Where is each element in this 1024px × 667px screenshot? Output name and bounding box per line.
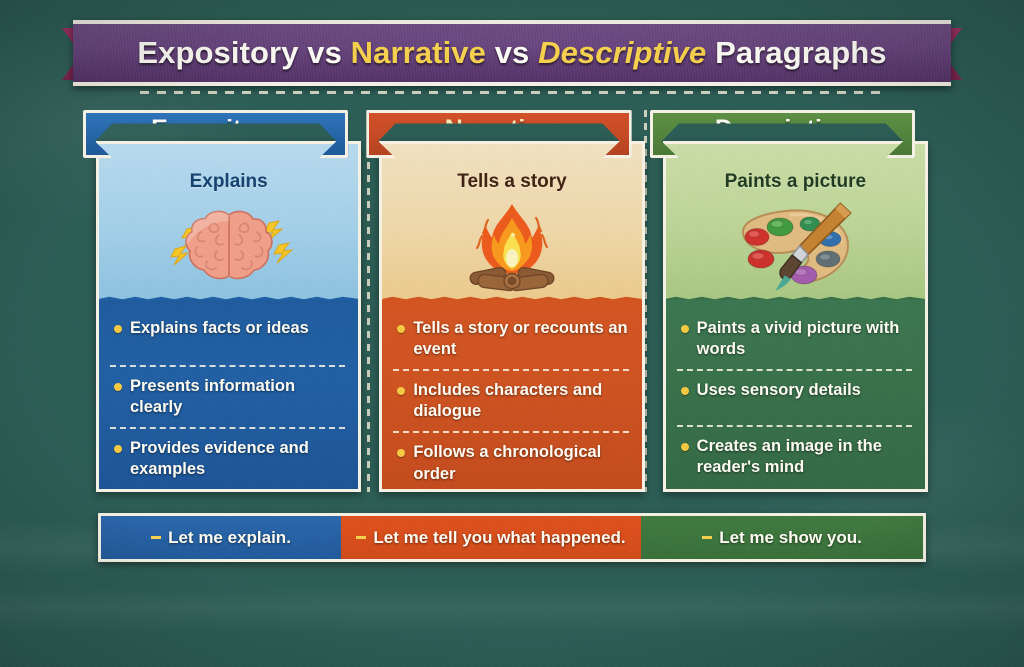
bullet-dot-icon [114,325,122,333]
title-part-3: vs [486,35,538,70]
summary-segment-expository: Let me explain. [101,516,341,559]
summary-text-descriptive: Let me show you. [719,528,862,548]
bullet-text: Tells a story or recounts an event [413,318,628,360]
card-bullets-expository: Explains facts or ideas Presents informa… [99,300,358,492]
column-expository: Expository Explains [96,110,361,492]
bullet-dot-icon [397,387,405,395]
summary-segment-narrative: Let me tell you what happened. [341,516,641,559]
column-heading-descriptive: Descriptive [715,115,850,144]
title-part-narrative: Narrative [351,35,486,70]
campfire-icon [382,193,641,300]
summary-segment-descriptive: Let me show you. [641,516,923,559]
column-heading-expository: Expository [151,115,280,144]
card-top-descriptive: Paints a picture [666,144,925,300]
bullet-dot-icon [114,383,122,391]
title-banner-group: Expository vs Narrative vs Descriptive P… [0,20,1024,88]
bullet-dot-icon [681,387,689,395]
bullet-text: Presents information clearly [130,376,345,418]
card-bullets-narrative: Tells a story or recounts an event Inclu… [382,300,641,492]
title-part-1: Expository vs [137,35,350,70]
bullet-text: Follows a chronological order [413,442,628,484]
card-narrative: Tells a story [379,141,644,492]
summary-strip: Let me explain. Let me tell you what hap… [98,513,926,562]
bullet-text: Uses sensory details [697,380,861,401]
card-top-narrative: Tells a story [382,144,641,300]
column-subtitle-descriptive: Paints a picture [725,171,867,193]
column-divider-1 [367,110,370,492]
bullet-item: Includes characters and dialogue [393,369,628,431]
summary-text-narrative: Let me tell you what happened. [373,528,625,548]
bullet-dot-icon [681,443,689,451]
bullet-dot-icon [397,325,405,333]
bullet-item: Uses sensory details [677,369,912,425]
bullet-item: Explains facts or ideas [110,309,345,365]
column-descriptive: Descriptive Paints a picture [663,110,928,492]
column-subtitle-expository: Explains [190,171,268,193]
bullet-item: Provides evidence and examples [110,427,345,489]
bullet-text: Creates an image in the reader's mind [697,436,912,478]
bullet-item: Paints a vivid picture with words [677,309,912,369]
card-top-expository: Explains [99,144,358,300]
bullet-dot-icon [114,445,122,453]
card-expository: Explains [96,141,361,492]
page-title: Expository vs Narrative vs Descriptive P… [137,35,886,71]
bullet-dot-icon [681,325,689,333]
bullet-text: Includes characters and dialogue [413,380,628,422]
dash-icon [356,536,366,539]
summary-text-expository: Let me explain. [168,528,291,548]
chalkboard-background: Expository vs Narrative vs Descriptive P… [0,0,1024,667]
dash-icon [702,536,712,539]
title-part-descriptive: Descriptive [538,35,706,70]
column-narrative: Narrative Tells a story [379,110,644,492]
bullet-item: Follows a chronological order [393,431,628,492]
card-descriptive: Paints a picture [663,141,928,492]
bullet-text: Provides evidence and examples [130,438,345,480]
brain-icon [99,193,358,300]
title-part-5: Paragraphs [706,35,886,70]
bullet-item: Creates an image in the reader's mind [677,425,912,487]
dash-icon [151,536,161,539]
bullet-item: Tells a story or recounts an event [393,309,628,369]
comparison-columns: Expository Explains [96,110,928,492]
card-bullets-descriptive: Paints a vivid picture with words Uses s… [666,300,925,492]
bullet-text: Paints a vivid picture with words [697,318,912,360]
bullet-item: Presents information clearly [110,365,345,427]
title-banner: Expository vs Narrative vs Descriptive P… [73,20,951,86]
title-dashed-rule [140,91,884,94]
bullet-text: Explains facts or ideas [130,318,309,339]
bullet-dot-icon [397,449,405,457]
column-heading-narrative: Narrative [445,115,553,144]
column-subtitle-narrative: Tells a story [457,171,566,193]
paint-palette-icon [666,193,925,300]
